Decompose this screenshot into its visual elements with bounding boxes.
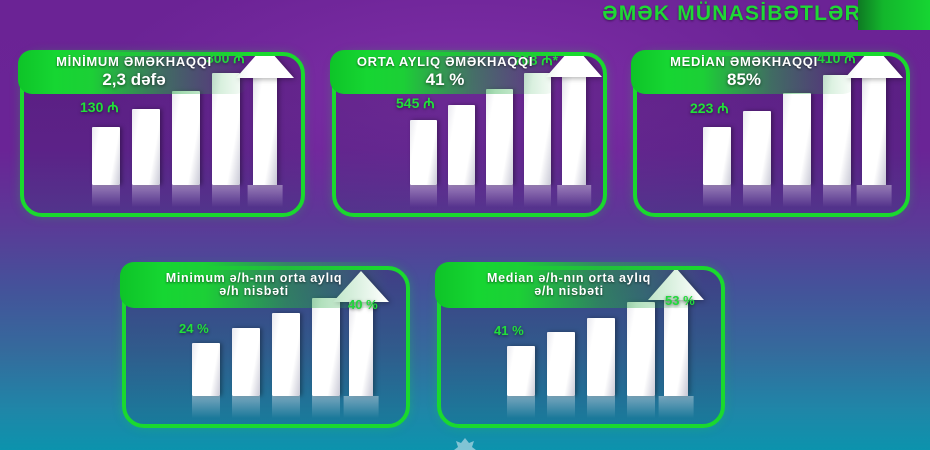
card-header-tab: MİNİMUM ƏMƏKHAQQI 2,3 dəfə xyxy=(18,50,250,94)
bar-3 xyxy=(486,89,513,185)
state-emblem-icon xyxy=(448,436,482,450)
header-accent-bar xyxy=(858,0,930,30)
card-header-tab: MEDİAN ƏMƏKHAQQI 85% xyxy=(631,50,857,94)
card-title: MEDİAN ƏMƏKHAQQI xyxy=(670,55,818,69)
arrow-shaft xyxy=(664,298,688,396)
header-bar: ƏMƏK MÜNASİBƏTLƏRİ xyxy=(0,0,930,32)
card-header-tab: ORTA AYLIQ ƏMƏKHAQQI 41 % xyxy=(330,50,560,94)
value-start: 545 ₼ xyxy=(396,94,435,113)
card-average-monthly-wage[interactable]: 545 ₼ 768 ₼* ORTA AYLIQ ƏMƏKHAQQI 41 % xyxy=(332,52,607,217)
bar-2 xyxy=(743,111,771,185)
bar-2 xyxy=(232,328,260,396)
value-start: 130 ₼ xyxy=(80,98,119,117)
value-start: 223 ₼ xyxy=(690,99,729,118)
arrow-shaft xyxy=(349,300,373,396)
card-title-line-2: ə/h nisbəti xyxy=(219,285,289,298)
value-start: 41 % xyxy=(494,323,524,338)
bar-3 xyxy=(272,313,300,396)
bar-3 xyxy=(172,91,200,185)
card-title: MİNİMUM ƏMƏKHAQQI xyxy=(56,55,212,69)
card-title: ORTA AYLIQ ƏMƏKHAQQI xyxy=(357,55,533,69)
card-minimum-to-average-ratio[interactable]: 24 % 40 % Minimum ə/h-nın orta aylıq ə/h… xyxy=(122,266,410,428)
card-title-line-2: ə/h nisbəti xyxy=(534,285,604,298)
bar-1 xyxy=(507,346,535,396)
bar-1 xyxy=(703,127,731,185)
card-minimum-wage[interactable]: 130 ₼ 300 ₼ MİNİMUM ƏMƏKHAQQI 2,3 dəfə xyxy=(20,52,305,217)
card-subtitle: 41 % xyxy=(426,70,465,90)
bar-2 xyxy=(448,105,475,185)
bar-3 xyxy=(783,93,811,185)
infographic-canvas: ƏMƏK MÜNASİBƏTLƏRİ 130 ₼ 300 ₼ MİNİMUM Ə… xyxy=(0,0,930,450)
bar-2 xyxy=(547,332,575,396)
value-start: 24 % xyxy=(179,321,209,336)
arrow-shaft xyxy=(562,77,586,185)
bar-2 xyxy=(132,109,160,185)
arrow-shaft xyxy=(862,75,886,185)
card-subtitle: 85% xyxy=(727,70,761,90)
bar-3 xyxy=(587,318,615,396)
bar-1 xyxy=(192,343,220,396)
card-median-to-average-ratio[interactable]: 41 % 53 % Median ə/h-nın orta aylıq ə/h … xyxy=(437,266,725,428)
bar-1 xyxy=(410,120,437,185)
arrow-shaft xyxy=(253,75,277,185)
card-median-wage[interactable]: 223 ₼ 410 ₼ MEDİAN ƏMƏKHAQQI 85% xyxy=(633,52,910,217)
card-header-tab: Median ə/h-nın orta aylıq ə/h nisbəti xyxy=(435,262,703,308)
page-title: ƏMƏK MÜNASİBƏTLƏRİ xyxy=(602,2,868,26)
card-subtitle: 2,3 dəfə xyxy=(102,70,165,90)
bar-1 xyxy=(92,127,120,185)
card-header-tab: Minimum ə/h-nın orta aylıq ə/h nisbəti xyxy=(120,262,388,308)
